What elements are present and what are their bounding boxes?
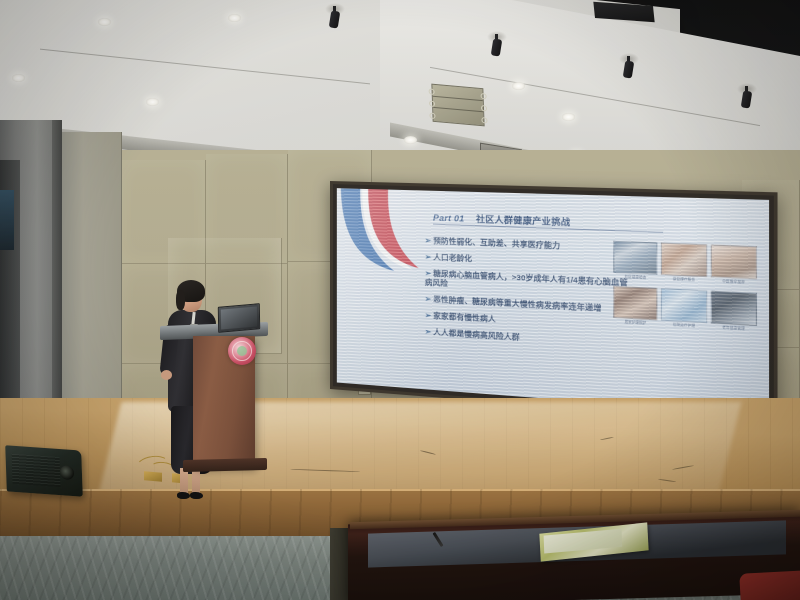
slide-part-number: Part 01 [433,212,465,223]
presenter-shoe [177,492,190,499]
downlight-icon [562,113,575,121]
photo-cell: 社区健康检查 [613,241,658,285]
list-item: ➢人口老龄化 [425,252,636,271]
podium-institution-seal [228,337,256,365]
slide-photo-grid: 社区健康检查 康复理疗服务 中医推拿按摩 居家护理照护 住院治疗护理 [613,241,757,336]
presenter-shoe [190,492,203,499]
ceiling-mounted-equipment-rack [431,84,484,127]
bullet-marker-icon: ➢ [425,294,431,304]
photo-caption: 老年健康管理 [710,325,757,337]
photo-cell: 康复理疗服务 [661,243,707,287]
slide-photo [661,288,707,323]
slide-photo [613,286,658,321]
slide-title-row: Part 01社区人群健康产业挑战 [433,211,707,233]
photo-caption: 康复理疗服务 [661,276,707,287]
downlight-icon [12,74,25,82]
list-item: ➢预防性弱化、互助差、共享医疗能力 [425,236,636,254]
photo-caption: 住院治疗护理 [661,322,707,333]
bullet-marker-icon: ➢ [425,310,431,320]
photo-cell: 中医推拿按摩 [710,244,757,289]
slide-photo [661,243,707,278]
presenter-hand [161,370,172,380]
list-item: ➢糖尿病心脑血管病人，>30岁成年人有1/4患有心脑血管病风险 [425,268,636,299]
slide-photo [710,291,757,327]
led-projection-screen[interactable]: Part 01社区人群健康产业挑战 ➢预防性弱化、互助差、共享医疗能力 ➢人口老… [330,181,778,424]
slide-photo [710,244,757,279]
bullet-text: 人口老龄化 [433,252,472,263]
bullet-text: 糖尿病心脑血管病人，>30岁成年人有1/4患有心脑血管病风险 [425,268,628,288]
downlight-icon [146,98,159,106]
downlight-icon [228,14,241,22]
track-spotlight-icon [492,34,501,56]
photo-cell: 居家护理照护 [613,286,658,330]
slide-content: Part 01社区人群健康产业挑战 ➢预防性弱化、互助差、共享医疗能力 ➢人口老… [337,188,769,416]
bullet-text: 家家都有慢性病人 [433,311,495,324]
photo-caption: 中医推拿按摩 [710,278,757,289]
downlight-icon [98,18,111,26]
bullet-marker-icon: ➢ [425,326,431,336]
track-spotlight-icon [624,56,633,78]
presenter-leg [192,468,200,494]
bullet-text: 预防性弱化、互助差、共享医疗能力 [433,236,560,250]
bullet-marker-icon: ➢ [425,236,431,245]
track-spotlight-icon [742,86,751,108]
presenter-laptop [218,303,260,333]
downlight-icon [404,136,417,144]
slide-photo [613,241,658,275]
blue-red-swoosh-logo [339,188,431,285]
photo-cell: 老年健康管理 [710,291,757,337]
track-spotlight-icon [330,6,339,28]
photo-caption: 社区健康检查 [613,274,658,285]
red-auditorium-chair [739,570,800,600]
conference-hall-photo: Part 01社区人群健康产业挑战 ➢预防性弱化、互助差、共享医疗能力 ➢人口老… [0,0,800,600]
slide-bullet-list: ➢预防性弱化、互助差、共享医疗能力 ➢人口老龄化 ➢糖尿病心脑血管病人，>30岁… [425,236,636,357]
bullet-marker-icon: ➢ [425,268,431,278]
stage-monitor-speaker [5,445,83,496]
photo-cell: 住院治疗护理 [661,288,707,333]
bullet-text: 恶性肿瘤、糖尿病等重大慢性病发病率连年递增 [433,294,601,313]
bullet-marker-icon: ➢ [425,252,431,262]
podium-base [183,458,267,472]
bullet-text: 人人都是慢病高风险人群 [433,327,519,342]
presenter-hair-side [176,290,185,310]
downlight-icon [512,82,525,90]
wall-mounted-display [0,190,14,250]
